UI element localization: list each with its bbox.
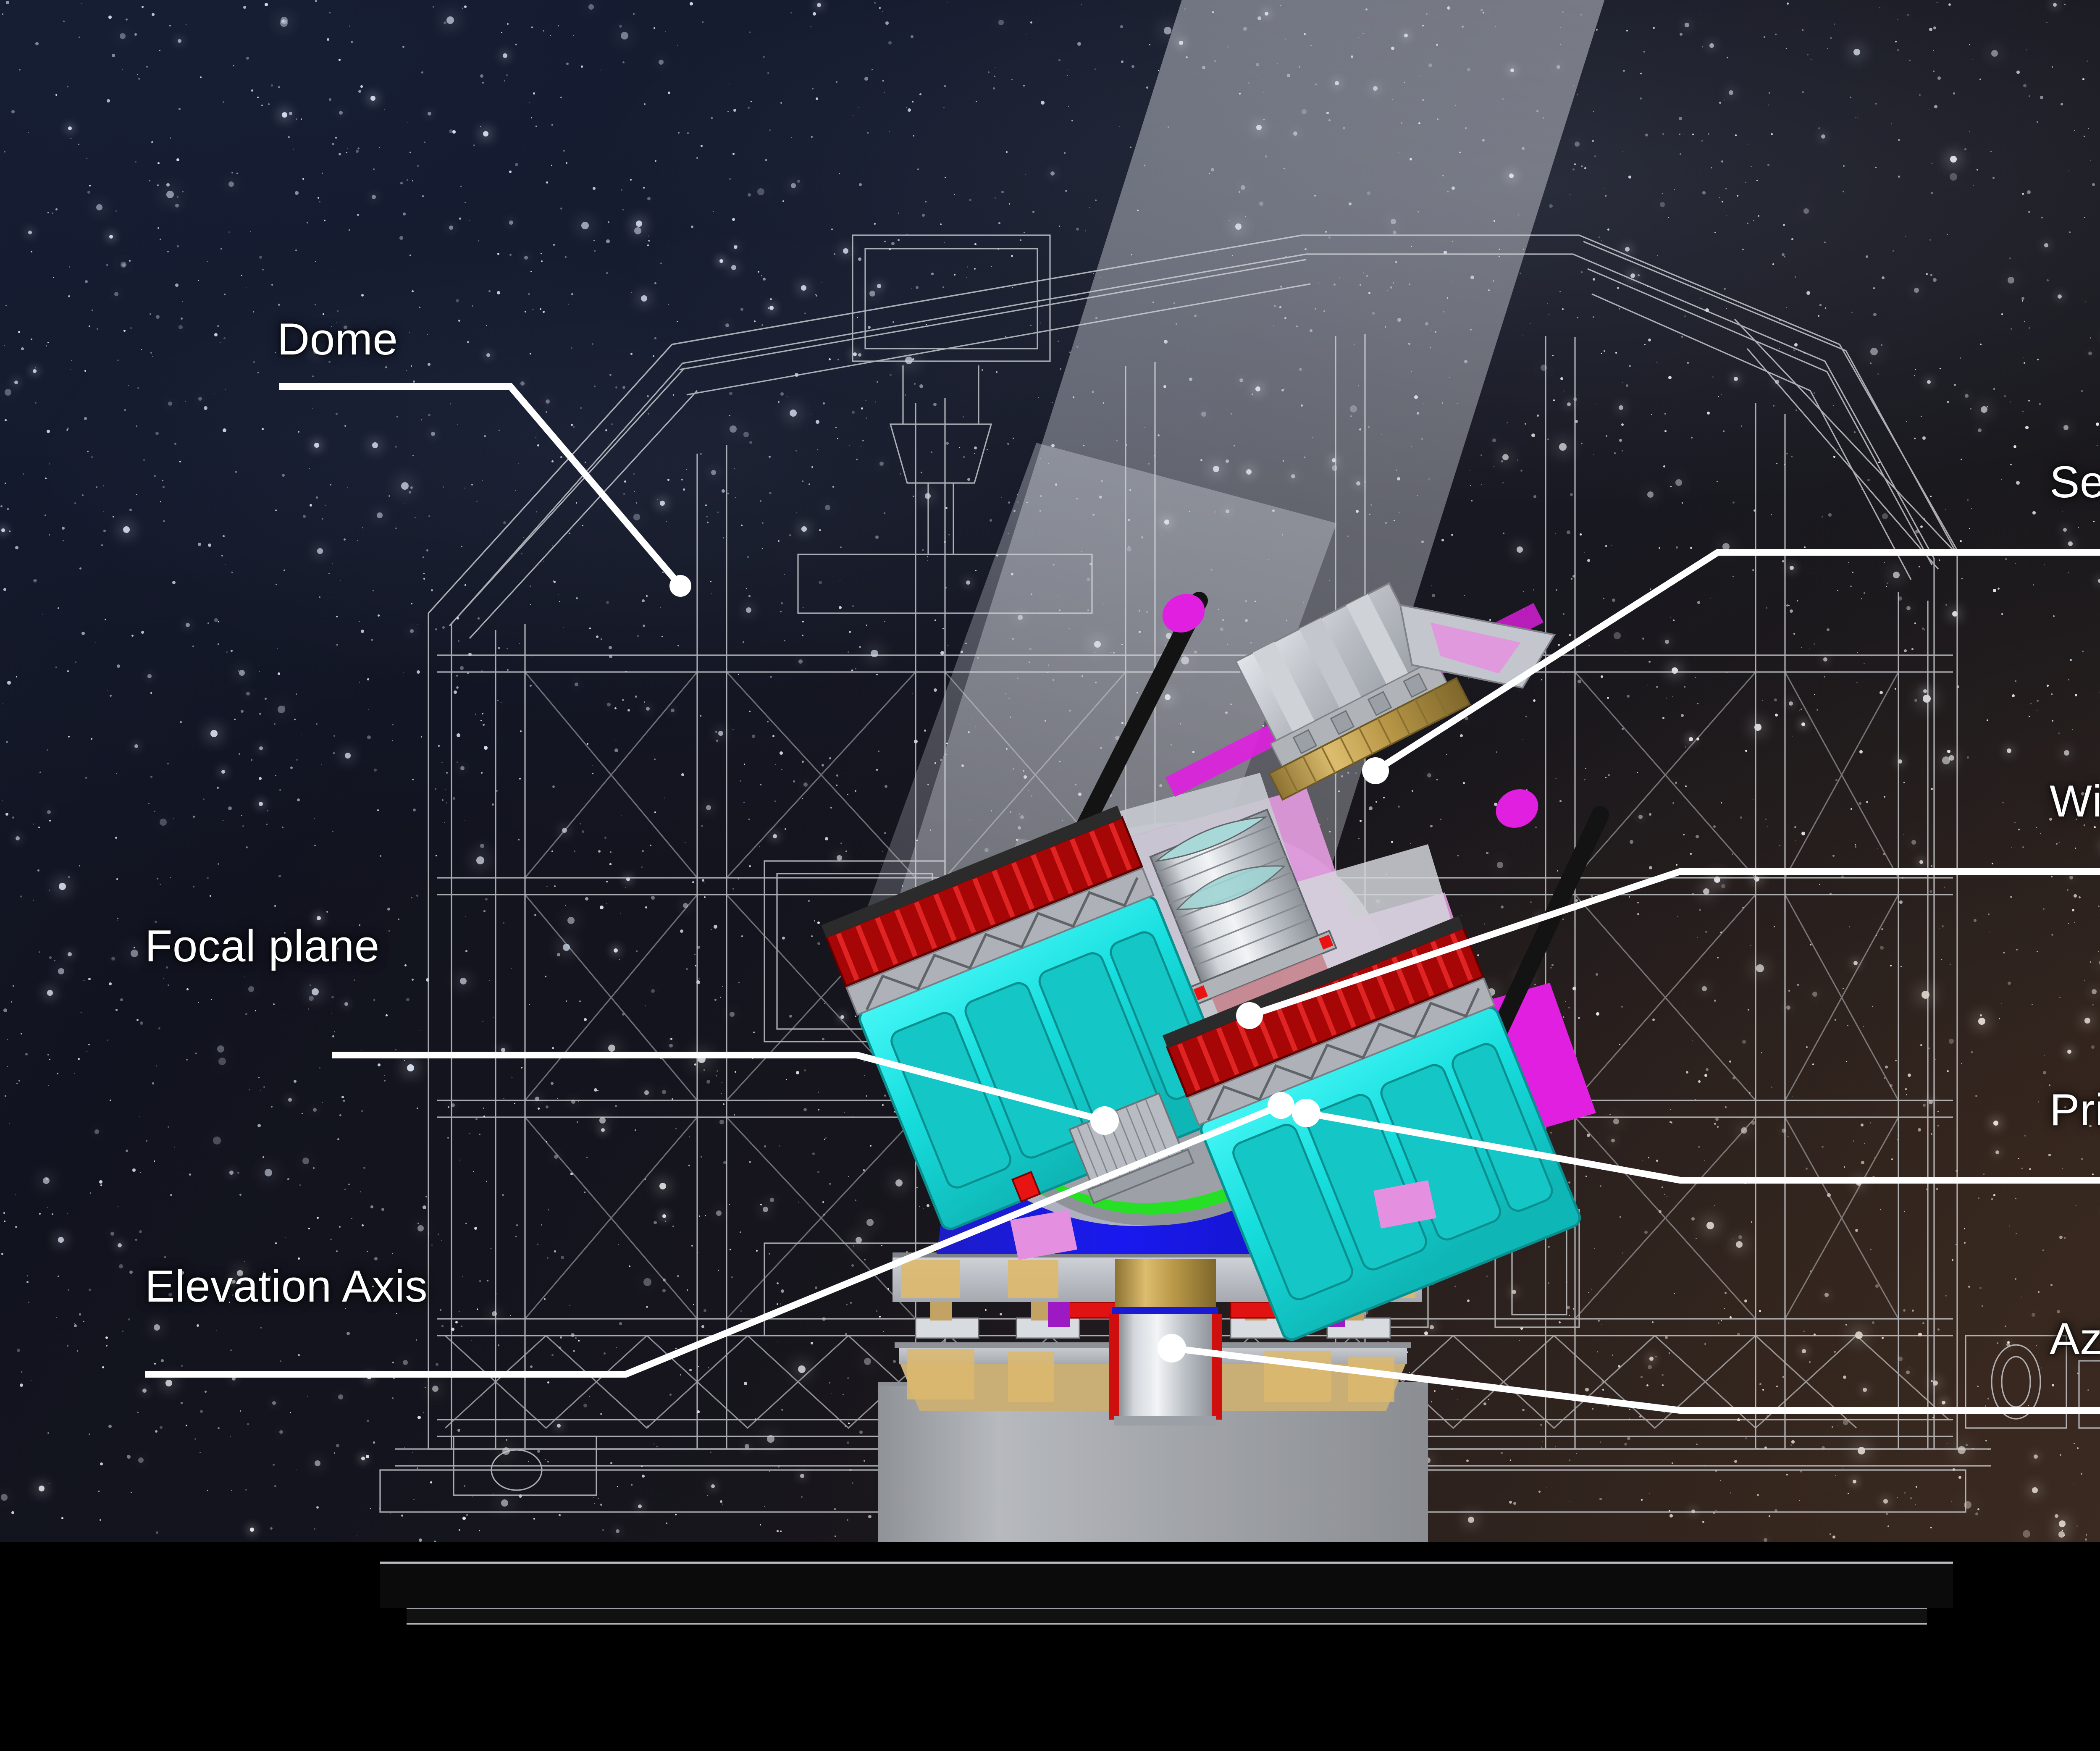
dome-plinth-base bbox=[407, 1608, 1927, 1625]
label-wide-field-correctors: Wide Field Correctors bbox=[2050, 775, 2100, 827]
azimuth-axis-shaft bbox=[1109, 1259, 1222, 1425]
label-focal-plane: Focal plane bbox=[145, 920, 380, 972]
dome-plinth bbox=[380, 1562, 1953, 1608]
label-azimuth-axis: Azimuth Axis bbox=[2050, 1313, 2100, 1365]
telescope-diagram: Dome Focal plane Elevation Axis Secondar… bbox=[0, 0, 2100, 1751]
label-primary-mirror: Primary Mirror bbox=[2050, 1084, 2100, 1136]
label-dome: Dome bbox=[277, 313, 398, 365]
label-secondary-mirror: Secondary Mirror bbox=[2050, 456, 2100, 508]
label-elevation-axis: Elevation Axis bbox=[145, 1260, 428, 1312]
